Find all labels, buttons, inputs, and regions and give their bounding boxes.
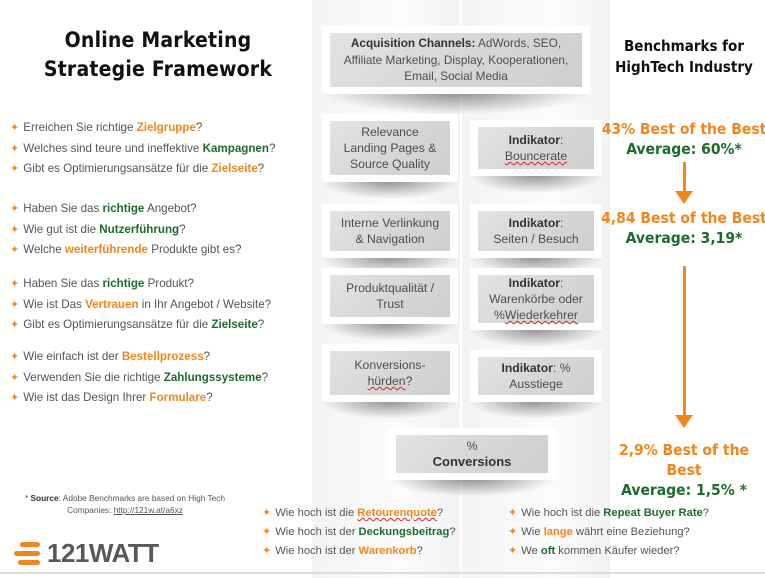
diamond-bullet-icon: ✦	[10, 299, 19, 311]
diamond-bullet-icon: ✦	[10, 163, 19, 175]
benchmark-pages-per-visit: 4,84 Best of the Best Average: 3,19*	[600, 208, 765, 248]
diamond-bullet-icon: ✦	[10, 278, 19, 290]
arrow-head	[675, 415, 693, 428]
stage-card-3: Konversions-hürden?	[322, 344, 458, 402]
stage-card-shadow	[322, 181, 458, 199]
question-text-post: ?	[437, 507, 443, 519]
benchmark-bouncerate: 43% Best of the Best Average: 60%*	[600, 119, 765, 159]
spellcheck-word: hürden	[368, 374, 406, 388]
benchmark-average-1: Average: 3,19*	[600, 228, 765, 248]
logo-wordmark: 121WATT	[47, 538, 159, 569]
source-line1: * Source: Adobe Benchmarks are based on …	[6, 492, 244, 504]
indicator-card-2: Indikator:Warenkörbe oder%Wiederkehrer	[470, 268, 602, 330]
stage-card-line-0: Produktqualität /	[346, 280, 434, 296]
diamond-bullet-icon: ✦	[508, 526, 517, 538]
question-item-1: ✦Wie gut ist die Nutzerführung?	[10, 220, 310, 241]
source-asterisk: *	[25, 493, 28, 503]
question-item-2: ✦Welche weiterführende Produkte gibt es?	[10, 240, 310, 261]
question-text-post: in Ihr Angebot / Website?	[139, 298, 272, 311]
question-text-post: ?	[206, 391, 212, 404]
question-text-post: Produkte gibt es?	[148, 243, 241, 256]
question-keyword: Zielseite	[211, 162, 257, 175]
question-text-pre: Wie hoch ist die	[275, 507, 357, 519]
spellcheck-word: Wiederkehrer	[505, 308, 578, 322]
benchmarks-title: Benchmarks for HighTech Industry	[608, 36, 760, 78]
stage-card-line-0: Konversions-	[354, 357, 425, 373]
question-keyword: Retourenquote	[357, 507, 437, 519]
conversions-card-text: % Conversions	[396, 435, 548, 473]
question-text-pre: Welches sind teure und ineffektive	[23, 142, 202, 155]
conversions-label: Conversions	[433, 454, 512, 470]
indicator-card-shadow	[470, 329, 602, 347]
logo-121watt[interactable]: 121WATT	[14, 538, 159, 569]
diamond-bullet-icon: ✦	[262, 545, 271, 557]
question-text-post: kommen Käufer wieder?	[555, 545, 679, 557]
diamond-bullet-icon: ✦	[10, 143, 19, 155]
indicator-card-0: Indikator:Bouncerate	[470, 120, 602, 176]
question-item-1: ✦Verwenden Sie die richtige Zahlungssyst…	[10, 368, 310, 389]
indicator-card-text: Indikator:Bouncerate	[478, 127, 594, 169]
indicator-card-1: Indikator:Seiten / Besuch	[470, 204, 602, 258]
indicator-value-0: Bouncerate	[505, 148, 567, 164]
acquisition-channels-card: Acquisition Channels: AdWords, SEO, Affi…	[322, 26, 590, 94]
indicator-card-text: Indikator:Seiten / Besuch	[478, 211, 594, 251]
diamond-bullet-icon: ✦	[262, 526, 271, 538]
diamond-bullet-icon: ✦	[10, 351, 19, 363]
arrow-down-icon-1	[671, 162, 697, 204]
benchmarks-title-line1: Benchmarks for	[608, 36, 760, 57]
stage-card-text: Konversions-hürden?	[330, 351, 450, 395]
question-text-post: ?	[449, 526, 455, 538]
bottom-question-right-2: ✦We oft kommen Käufer wieder?	[508, 542, 764, 561]
question-text-pre: Wie ist Das	[23, 298, 85, 311]
page-title: Online Marketing Strategie Framework	[12, 26, 304, 84]
indicator-label: Indikator:	[509, 215, 564, 231]
stage-card-shadow	[322, 323, 458, 341]
benchmark-conversion-rate: 2,9% Best of the Best Average: 1,5% *	[600, 440, 765, 500]
benchmark-best-0: 43% Best of the Best	[600, 119, 765, 139]
indicator-keyword: Indikator	[509, 216, 560, 230]
page-title-line2: Strategie Framework	[12, 55, 304, 84]
stage-card-text: RelevanceLanding Pages &Source Quality	[330, 121, 450, 175]
acquisition-line1-rest: AdWords, SEO,	[475, 36, 561, 50]
question-group-acquisition: ✦Erreichen Sie richtige Zielgruppe?✦Welc…	[10, 118, 310, 180]
question-text-pre: We	[521, 545, 541, 557]
question-text-pre: Haben Sie das	[23, 277, 102, 290]
question-text-post: ?	[258, 162, 264, 175]
diamond-bullet-icon: ✦	[508, 507, 517, 519]
question-item-0: ✦Wie einfach ist der Bestellprozess?	[10, 347, 310, 368]
question-keyword: Repeat Buyer Rate	[603, 507, 702, 519]
question-text-post: ?	[204, 350, 210, 363]
stage-card-1: Interne Verlinkung& Navigation	[322, 204, 458, 258]
stage-card-line-2: Source Quality	[350, 156, 430, 172]
diamond-bullet-icon: ✦	[508, 545, 517, 557]
source-note: * Source: Adobe Benchmarks are based on …	[6, 492, 244, 516]
question-text-post: Angebot?	[144, 202, 196, 215]
question-text-pre: Wie hoch ist die	[521, 507, 603, 519]
acquisition-card-shadow	[322, 92, 590, 114]
diamond-bullet-icon: ✦	[10, 224, 19, 236]
stage-card-line-1: Landing Pages &	[344, 140, 437, 156]
question-group-engagement: ✦Haben Sie das richtige Angebot?✦Wie gut…	[10, 199, 310, 261]
stage-card-shadow	[322, 401, 458, 419]
question-text-pre: Gibt es Optimierungsansätze für die	[23, 162, 211, 175]
indicator-value-0: Ausstiege	[509, 376, 563, 392]
question-text-post: ?	[196, 121, 202, 134]
arrow-head	[675, 191, 693, 204]
question-keyword: oft	[541, 545, 555, 557]
indicator-keyword: Indikator	[509, 133, 560, 147]
infographic-canvas: Online Marketing Strategie Framework ✦Er…	[0, 0, 765, 578]
indicator-card-shadow	[470, 401, 602, 419]
question-text-pre: Verwenden Sie die richtige	[23, 371, 164, 384]
question-keyword: Zahlungssysteme	[164, 371, 262, 384]
bottom-questions-right: ✦Wie hoch ist die Repeat Buyer Rate?✦Wie…	[508, 504, 764, 561]
question-item-0: ✦Haben Sie das richtige Angebot?	[10, 199, 310, 220]
question-keyword: Formulare	[150, 391, 207, 404]
benchmark-best-1: 4,84 Best of the Best	[600, 208, 765, 228]
question-keyword: richtige	[103, 202, 145, 215]
question-item-2: ✦Wie ist das Design Ihrer Formulare?	[10, 388, 310, 409]
bottom-question-left-1: ✦Wie hoch ist der Deckungsbeitrag?	[262, 523, 512, 542]
question-keyword: Warenkorb	[359, 545, 417, 557]
indicator-card-text: Indikator:Warenkörbe oder%Wiederkehrer	[478, 275, 594, 323]
benchmark-average-2: Average: 1,5% *	[600, 480, 765, 500]
question-text-pre: Wie hoch ist der	[275, 526, 358, 538]
question-keyword: Kampagnen	[203, 142, 269, 155]
benchmark-best-2: 2,9% Best of the Best	[600, 440, 765, 480]
question-keyword: Zielgruppe	[137, 121, 196, 134]
indicator-value-1: %Wiederkehrer	[494, 307, 578, 323]
question-keyword: Vertrauen	[85, 298, 139, 311]
source-line2: Companies: http://121w.at/a6xz	[6, 504, 244, 516]
question-text-post: ?	[262, 371, 268, 384]
spellcheck-word: Bouncerate	[505, 149, 567, 163]
stage-card-2: Produktqualität /Trust	[322, 268, 458, 324]
source-label: Source	[31, 493, 59, 503]
acquisition-line3: Email, Social Media	[404, 68, 508, 85]
question-text-pre: Welche	[23, 243, 65, 256]
indicator-card-3: Indikator: %Ausstiege	[470, 350, 602, 402]
acquisition-label: Acquisition Channels:	[351, 36, 476, 50]
arrow-stem	[683, 266, 686, 415]
indicator-card-text: Indikator: %Ausstiege	[478, 357, 594, 395]
diamond-bullet-icon: ✦	[10, 372, 19, 384]
question-keyword: Zielseite	[211, 318, 257, 331]
arrow-stem	[683, 162, 686, 191]
question-keyword: richtige	[103, 277, 145, 290]
arrow-down-icon-2	[671, 266, 697, 428]
indicator-value-0: Seiten / Besuch	[493, 231, 578, 247]
indicator-keyword: Indikator	[509, 276, 560, 290]
stage-card-line-1: Trust	[376, 296, 403, 312]
acquisition-card-text: Acquisition Channels: AdWords, SEO, Affi…	[330, 33, 582, 87]
question-text-pre: Erreichen Sie richtige	[23, 121, 136, 134]
question-keyword: Bestellprozess	[122, 350, 204, 363]
stage-card-line-1: & Navigation	[355, 231, 424, 247]
bottom-question-left-2: ✦Wie hoch ist der Warenkorb?	[262, 542, 512, 561]
question-text-pre: Haben Sie das	[23, 202, 102, 215]
indicator-label: Indikator:	[509, 132, 564, 148]
question-text-post: ?	[179, 223, 185, 236]
diamond-bullet-icon: ✦	[10, 122, 19, 134]
acquisition-line1: Acquisition Channels: AdWords, SEO,	[351, 35, 561, 52]
footer-divider	[0, 572, 765, 574]
bottom-question-left-0: ✦Wie hoch ist die Retourenquote?	[262, 504, 512, 523]
acquisition-line2: Affiliate Marketing, Display, Kooperatio…	[344, 52, 568, 69]
question-text-pre: Wie	[521, 526, 543, 538]
indicator-label: Indikator:	[509, 275, 564, 291]
question-item-2: ✦Gibt es Optimierungsansätze für die Zie…	[10, 315, 310, 336]
diamond-bullet-icon: ✦	[10, 392, 19, 404]
stage-card-line-0: Relevance	[361, 124, 419, 140]
stage-card-text: Produktqualität /Trust	[330, 275, 450, 317]
question-group-trust: ✦Haben Sie das richtige Produkt?✦Wie ist…	[10, 274, 310, 336]
source-companies-label: Companies:	[67, 505, 114, 515]
question-group-checkout: ✦Wie einfach ist der Bestellprozess?✦Ver…	[10, 347, 310, 409]
stage-card-line-0: Interne Verlinkung	[341, 215, 439, 231]
bottom-question-right-0: ✦Wie hoch ist die Repeat Buyer Rate?	[508, 504, 764, 523]
indicator-keyword: Indikator	[501, 361, 552, 375]
logo-bars-icon	[14, 542, 40, 566]
question-keyword: weiterführende	[65, 243, 148, 256]
diamond-bullet-icon: ✦	[10, 203, 19, 215]
question-text-post: ?	[258, 318, 264, 331]
question-text-post: Produkt?	[144, 277, 194, 290]
question-keyword: Nutzerführung	[99, 223, 179, 236]
question-text-post: währt eine Beziehung?	[573, 526, 690, 538]
indicator-card-shadow	[470, 175, 602, 193]
question-text-post: ?	[417, 545, 423, 557]
benchmarks-title-line2: HighTech Industry	[608, 57, 760, 78]
question-text-pre: Wie gut ist die	[23, 223, 99, 236]
diamond-bullet-icon: ✦	[262, 507, 271, 519]
question-item-0: ✦Erreichen Sie richtige Zielgruppe?	[10, 118, 310, 139]
stage-card-line-1: hürden?	[368, 373, 413, 389]
question-item-1: ✦Welches sind teure und ineffektive Kamp…	[10, 139, 310, 160]
source-text: : Adobe Benchmarks are based on High Tec…	[59, 493, 225, 503]
question-keyword: lange	[544, 526, 573, 538]
stage-card-text: Interne Verlinkung& Navigation	[330, 211, 450, 251]
diamond-bullet-icon: ✦	[10, 319, 19, 331]
diamond-bullet-icon: ✦	[10, 244, 19, 256]
conversions-card: % Conversions	[388, 428, 556, 480]
question-text-pre: Gibt es Optimierungsansätze für die	[23, 318, 211, 331]
page-title-line1: Online Marketing	[12, 26, 304, 55]
question-item-0: ✦Haben Sie das richtige Produkt?	[10, 274, 310, 295]
indicator-value-0: Warenkörbe oder	[489, 291, 583, 307]
bottom-question-right-1: ✦Wie lange währt eine Beziehung?	[508, 523, 764, 542]
indicator-label: Indikator: %	[501, 360, 570, 376]
question-text-pre: Wie hoch ist der	[275, 545, 358, 557]
question-text-post: ?	[269, 142, 275, 155]
question-text-pre: Wie einfach ist der	[23, 350, 122, 363]
stage-card-0: RelevanceLanding Pages &Source Quality	[322, 114, 458, 182]
question-text-pre: Wie ist das Design Ihrer	[23, 391, 149, 404]
bottom-questions-left: ✦Wie hoch ist die Retourenquote?✦Wie hoc…	[262, 504, 512, 561]
question-item-2: ✦Gibt es Optimierungsansätze für die Zie…	[10, 159, 310, 180]
question-item-1: ✦Wie ist Das Vertrauen in Ihr Angebot / …	[10, 295, 310, 316]
question-text-post: ?	[703, 507, 709, 519]
question-keyword: Deckungsbeitrag	[359, 526, 450, 538]
conversions-card-shadow	[388, 478, 556, 496]
source-link[interactable]: http://121w.at/a6xz	[114, 505, 183, 515]
conversions-percent: %	[467, 438, 478, 454]
benchmark-average-0: Average: 60%*	[600, 139, 765, 159]
